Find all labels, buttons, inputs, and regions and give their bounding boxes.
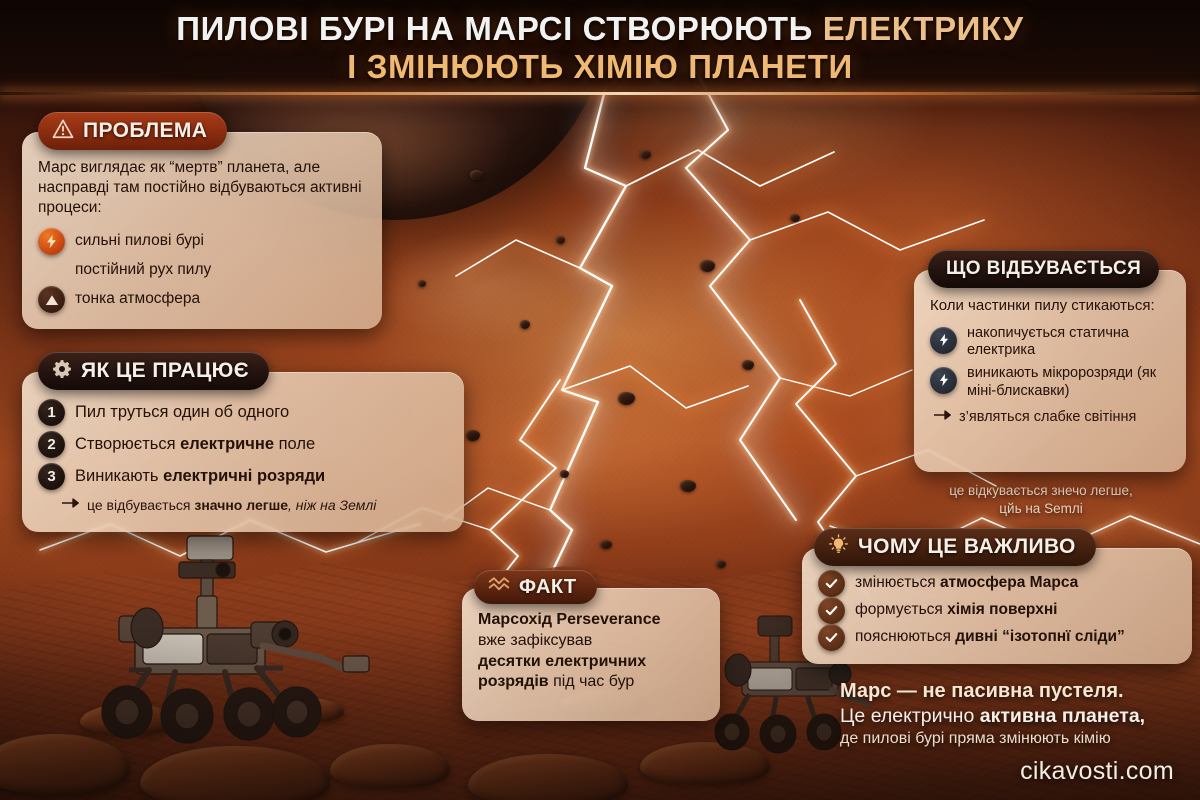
card-fact-line-1: Марсохід Perseverance (478, 610, 704, 631)
check-icon (818, 624, 845, 651)
card-how-it-works-header: ЯК ЦЕ ПРАЦЮЄ (38, 352, 269, 390)
card-how-it-works-title: ЯК ЦЕ ПРАЦЮЄ (81, 359, 249, 383)
background-caption-right-line-2: цйь на Semлі (886, 500, 1196, 518)
list-item-label: Пил труться один об одного (75, 402, 289, 422)
background-caption-right: це відкувається знечо легше, цйь на Semл… (886, 482, 1196, 518)
card-problem-title: ПРОБЛЕМА (83, 119, 207, 143)
card-what-happens-bullets: накопичується статична електрика виникаю… (930, 325, 1170, 401)
list-item-label: постійний рух пилу (75, 261, 211, 280)
card-what-happens-note: з’являться слабке світіння (930, 408, 1170, 426)
conclusion-line-1: Марс — не пасивна пустеля. (840, 678, 1190, 704)
list-item-label: Виникають електричні розряди (75, 466, 325, 486)
card-what-happens-header: ЩО ВІДБУВАЄТЬСЯ (928, 250, 1159, 288)
card-how-it-works-steps: 1 Пил труться один об одного 2 Створюєть… (38, 396, 448, 492)
list-item: змінюється атмосфера Марса (818, 570, 1176, 597)
card-fact-title: ФАКТ (519, 576, 577, 599)
warning-triangle-icon (52, 118, 74, 145)
list-item-label: накопичується статична електрика (967, 325, 1170, 360)
card-fact: ФАКТ Марсохід Perseverance вже зафіксува… (462, 588, 720, 721)
site-url-watermark: cikavosti.com (1020, 757, 1174, 786)
page-title-line-2: І ЗМІНЮЮТЬ ХІМІЮ ПЛАНЕТИ (347, 50, 853, 84)
card-how-it-works-note-text: це відбувається значно легше, ніж на Зем… (87, 497, 376, 513)
page-title-line-1: ПИЛОВІ БУРІ НА МАРСІ СТВОРЮЮТЬ ЕЛЕКТРИКУ (176, 12, 1023, 46)
card-fact-header: ФАКТ (474, 570, 597, 604)
header-title-bar: ПИЛОВІ БУРІ НА МАРСІ СТВОРЮЮТЬ ЕЛЕКТРИКУ… (0, 0, 1200, 95)
list-item: виникають мікророзряди (як міні-блискавк… (930, 365, 1170, 400)
list-item-label: пояснюються дивні “ізотопнї сліди” (855, 628, 1125, 647)
card-how-it-works-note: це відбувається значно легше, ніж на Зем… (38, 496, 448, 514)
page-title-line-1-accent: ЕЛЕКТРИКУ (823, 10, 1024, 47)
list-item-label: Створюється електричне поле (75, 434, 315, 454)
list-item: пояснюються дивні “ізотопнї сліди” (818, 624, 1176, 651)
step-number-3: 3 (38, 463, 65, 490)
step-number-2: 2 (38, 431, 65, 458)
lightbulb-icon (828, 534, 849, 560)
mountain-icon (38, 286, 65, 313)
conclusion-line-3: де пилові бурі пряма змінюють кімію (840, 729, 1190, 750)
rover-perseverance-large (75, 530, 375, 755)
lightning-bolt-icon (38, 228, 65, 255)
check-icon (818, 570, 845, 597)
card-how-it-works: ЯК ЦЕ ПРАЦЮЄ 1 Пил труться один об одног… (22, 372, 464, 532)
list-item-label: виникають мікророзряди (як міні-блискавк… (967, 365, 1170, 400)
list-item-label: сильні пилові бурі (75, 232, 204, 251)
lightning-bolt-icon (930, 367, 957, 394)
card-why-important-header: ЧОМУ ЦЕ ВАЖЛИВО (814, 528, 1096, 566)
list-item-label: змінюється атмосфера Марса (855, 574, 1078, 593)
page-title-line-1-plain: ПИЛОВІ БУРІ НА МАРСІ СТВОРЮЮТЬ (176, 10, 822, 47)
list-item: сильні пилові бурі (38, 227, 366, 256)
list-item: 3 Виникають електричні розряди (38, 460, 448, 492)
list-item: формується хімія поверхні (818, 597, 1176, 624)
list-item: 1 Пил труться один об одного (38, 396, 448, 428)
list-item: 2 Створюється електричне поле (38, 428, 448, 460)
card-fact-line-3: десятки електричних (478, 652, 704, 673)
list-item-label: тонка атмосфера (75, 290, 200, 309)
card-problem-header: ПРОБЛЕМА (38, 112, 227, 150)
conclusion-line-2: Це електрично активна планета, (840, 704, 1190, 729)
arrow-right-icon (934, 408, 951, 426)
list-item: накопичується статична електрика (930, 325, 1170, 360)
zigzag-waves-icon (488, 576, 510, 599)
card-fact-line-4: розрядів під час бур (478, 672, 704, 693)
card-what-happens-intro: Коли частинки пилу стикаються: (930, 296, 1170, 316)
card-why-important-bullets: змінюється атмосфера Марса формується хі… (818, 570, 1176, 651)
step-number-1: 1 (38, 399, 65, 426)
card-fact-line-2: вже зафіксував (478, 631, 704, 652)
list-item-label: формується хімія поверхні (855, 601, 1058, 620)
card-why-important: ЧОМУ ЦЕ ВАЖЛИВО змінюється атмосфера Мар… (802, 548, 1192, 664)
list-item: постійний рух пилу (38, 256, 366, 285)
background-caption-right-line-1: це відкувається знечо легше, (886, 482, 1196, 500)
arrow-right-icon (62, 496, 79, 514)
card-what-happens: ЩО ВІДБУВАЄТЬСЯ Коли частинки пилу стика… (914, 270, 1186, 472)
check-icon (818, 597, 845, 624)
conclusion-block: Марс — не пасивна пустеля. Це електрично… (840, 678, 1190, 750)
card-problem: ПРОБЛЕМА Марс виглядає як “мертв” планет… (22, 132, 382, 329)
card-why-important-title: ЧОМУ ЦЕ ВАЖЛИВО (858, 535, 1076, 559)
card-what-happens-note-text: з’являться слабке світіння (959, 409, 1136, 425)
card-what-happens-title: ЩО ВІДБУВАЄТЬСЯ (946, 258, 1141, 280)
lightning-bolt-icon (930, 327, 957, 354)
list-item: тонка атмосфера (38, 285, 366, 314)
card-problem-intro: Марс виглядає як “мертв” планета, але на… (38, 158, 366, 218)
card-problem-bullets: сильні пилові бурі постійний рух пилу то… (38, 227, 366, 314)
gear-icon (52, 359, 72, 384)
